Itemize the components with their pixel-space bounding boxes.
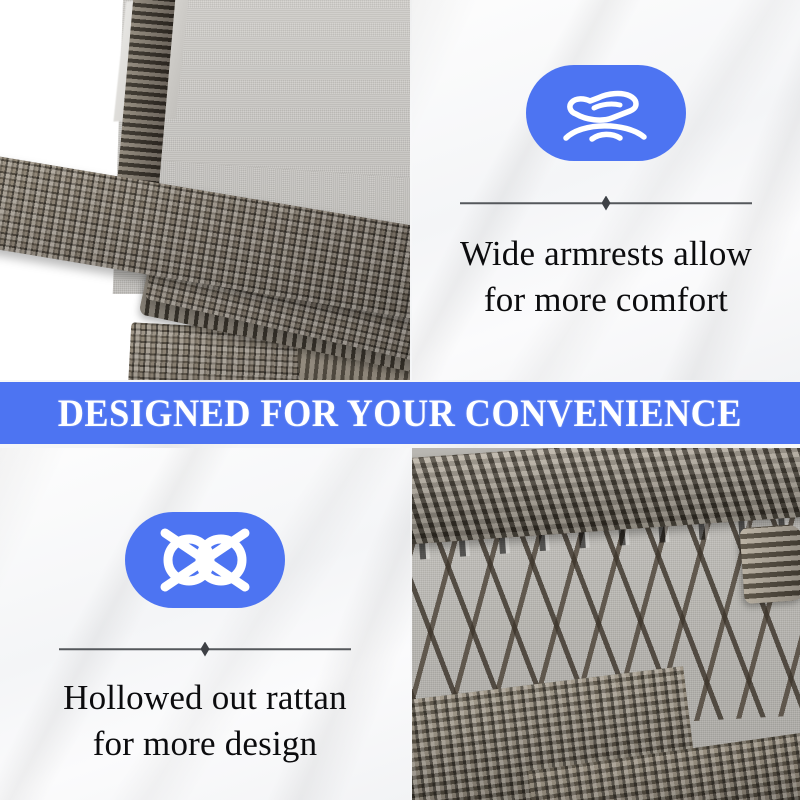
photo-armrest-layers [0,0,410,380]
caption-line-2: for more comfort [460,277,752,323]
feature-divider [59,641,351,657]
divider-diamond-icon [201,642,210,657]
hand-on-armrest-icon [554,82,658,144]
divider-diamond-icon [602,196,611,211]
banner-title: DESIGNED FOR YOUR CONVENIENCE [58,391,742,436]
comfort-icon-badge [526,65,686,161]
feature-caption-comfort: Wide armrests allow for more comfort [460,231,752,322]
headline-banner: DESIGNED FOR YOUR CONVENIENCE [0,382,800,444]
woven-rattan-knot-icon [149,523,261,597]
caption-line-1: Wide armrests allow [460,234,752,273]
product-photo-hollow-rattan [412,448,800,800]
caption-line-2: for more design [63,721,347,767]
feature-panel-rattan: Hollowed out rattan for more design [0,448,410,800]
caption-line-1: Hollowed out rattan [63,678,347,717]
photo-rattan-layers [412,448,800,800]
rattan-icon-badge [125,512,285,608]
feature-panel-comfort: Wide armrests allow for more comfort [412,0,800,380]
rattan-corner-post [739,524,800,604]
product-photo-armrest [0,0,410,380]
feature-divider [460,195,752,211]
infographic-canvas: Wide armrests allow for more comfort [0,0,800,800]
feature-caption-rattan: Hollowed out rattan for more design [63,675,347,766]
